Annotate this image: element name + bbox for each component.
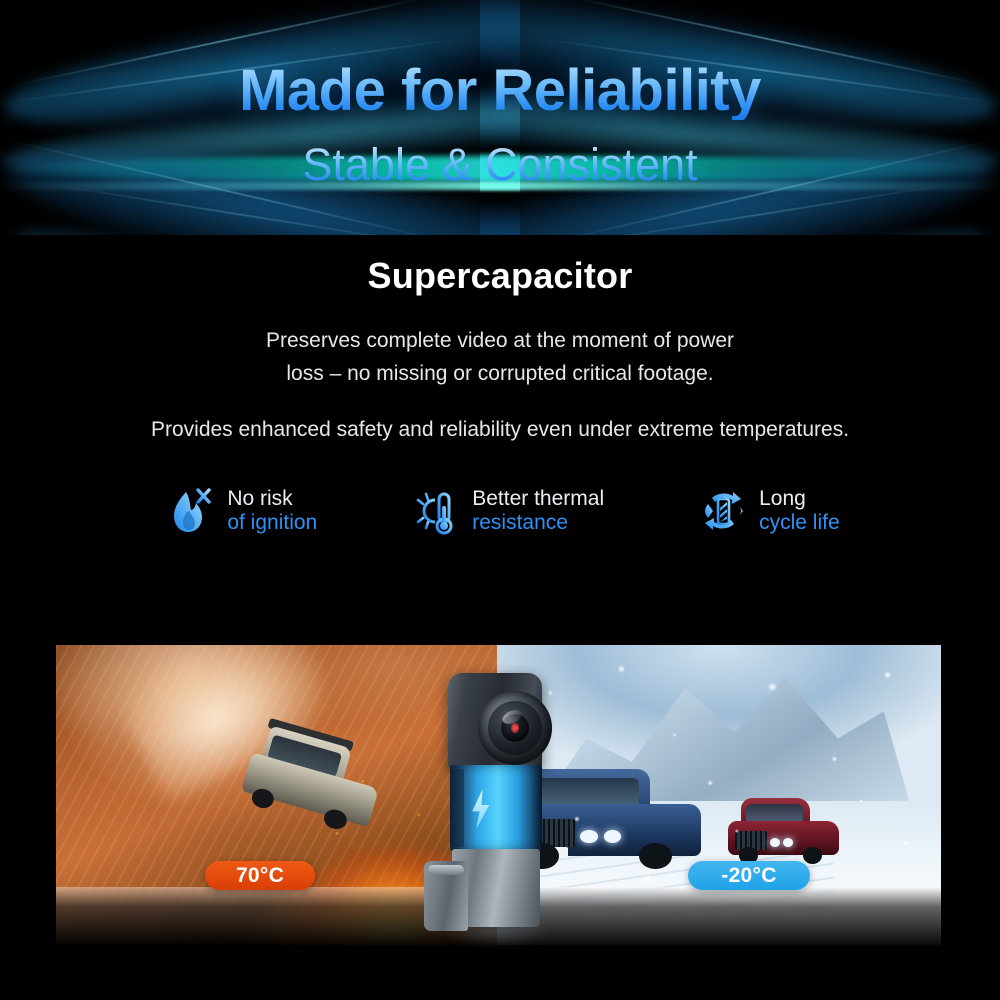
- hero-subtitle: Stable & Consistent: [302, 142, 697, 187]
- feature-list: No risk of ignition: [0, 486, 1000, 536]
- cold-temperature-badge: -20°C: [688, 861, 810, 890]
- feature-line-1: No risk: [227, 487, 317, 511]
- feature-label: Better thermal resistance: [472, 487, 604, 536]
- mount-lip: [428, 865, 464, 875]
- feature-line-2: cycle life: [759, 511, 840, 535]
- feature-label: No risk of ignition: [227, 487, 317, 536]
- feature-line-2: of ignition: [227, 511, 317, 535]
- cold-scene-panel: [497, 645, 941, 945]
- section-heading: Supercapacitor: [0, 255, 1000, 297]
- feature-label: Long cycle life: [759, 487, 840, 536]
- lens-barrel: [488, 701, 542, 755]
- lens-reflection-dot: [511, 723, 519, 733]
- cold-panel-reflection: [497, 887, 941, 945]
- supercapacitor-side-panel: [450, 769, 464, 847]
- sun-thermometer-icon: [413, 486, 459, 536]
- secondary-paragraph: Provides enhanced safety and reliability…: [0, 418, 1000, 442]
- description-line-1: Preserves complete video at the moment o…: [0, 325, 1000, 358]
- copy-block: Supercapacitor Preserves complete video …: [0, 235, 1000, 442]
- product-feature-page: Made for Reliability Stable & Consistent…: [0, 0, 1000, 1000]
- camera-lens: [478, 691, 552, 765]
- hero-banner: Made for Reliability Stable & Consistent: [0, 0, 1000, 235]
- feature-item-thermal-resistance: Better thermal resistance: [413, 486, 604, 536]
- feature-line-1: Better thermal: [472, 487, 604, 511]
- battery-recycle-icon: [700, 486, 746, 536]
- hot-temperature-badge: 70°C: [205, 861, 315, 890]
- hero-title: Made for Reliability: [239, 62, 761, 120]
- feature-item-cycle-life: Long cycle life: [700, 486, 840, 536]
- description-line-2: loss – no missing or corrupted critical …: [0, 358, 1000, 391]
- camera-head: [448, 673, 542, 769]
- flame-no-ignition-icon: [168, 486, 214, 536]
- dashcam-supercapacitor-device: [424, 665, 550, 950]
- feature-line-2: resistance: [472, 511, 604, 535]
- description-paragraph: Preserves complete video at the moment o…: [0, 325, 1000, 390]
- hero-text-block: Made for Reliability Stable & Consistent: [0, 0, 1000, 235]
- feature-item-no-ignition: No risk of ignition: [168, 486, 317, 536]
- feature-line-1: Long: [759, 487, 840, 511]
